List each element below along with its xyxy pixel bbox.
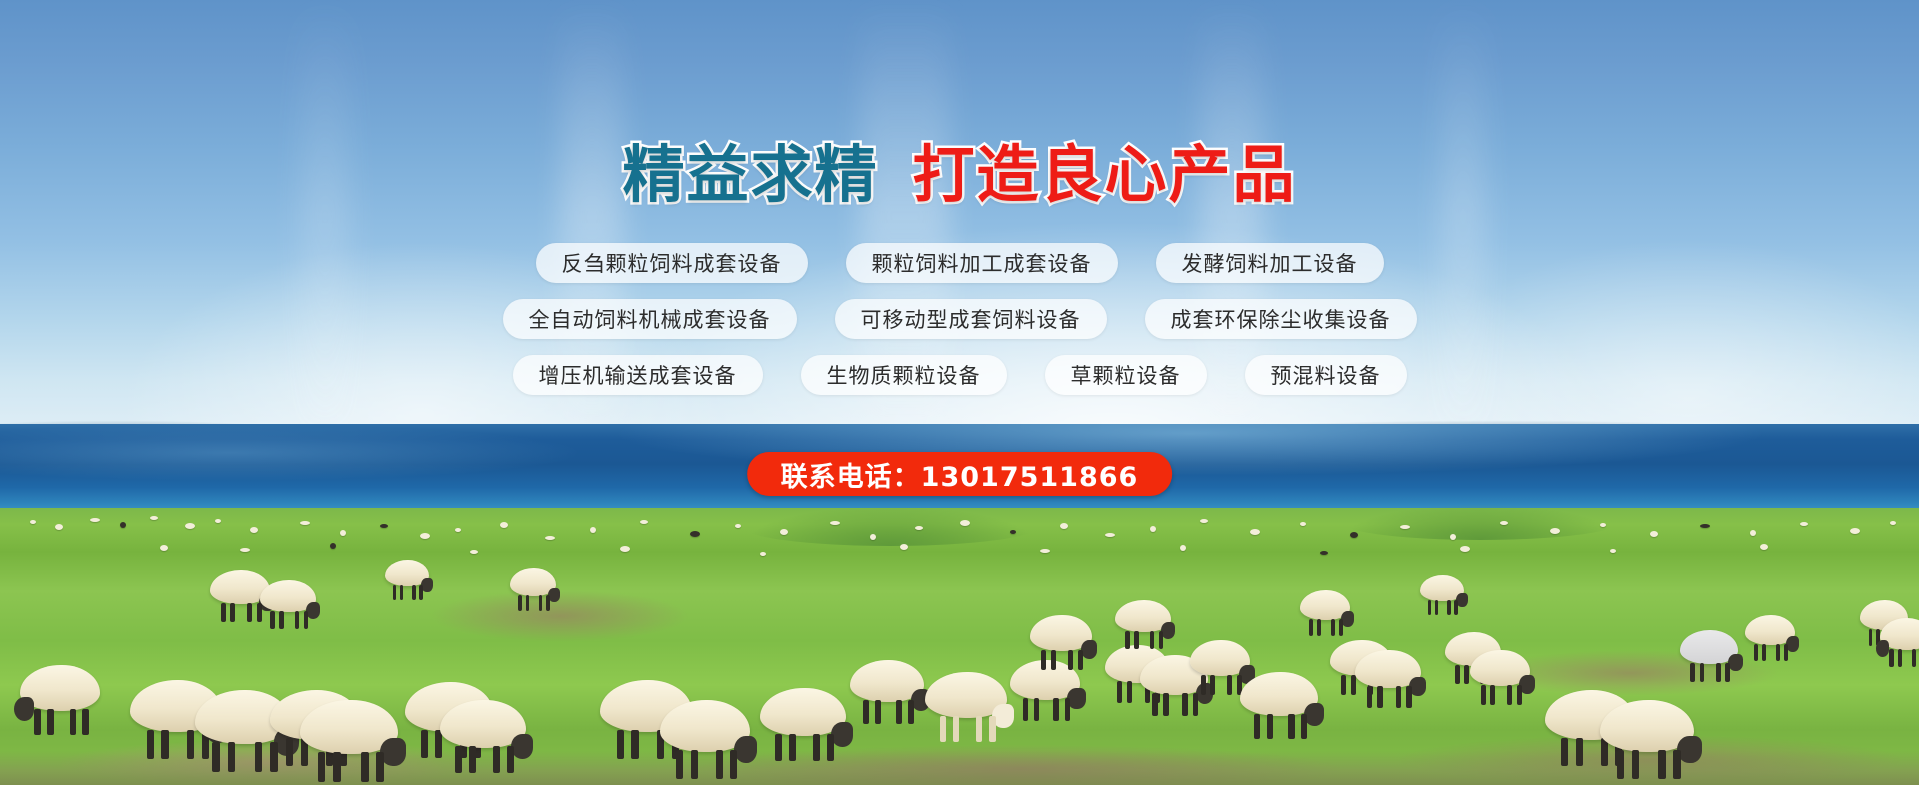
grazing-sheep <box>1030 615 1092 651</box>
sheep-head <box>1067 688 1085 709</box>
sheep-leg <box>1464 665 1468 684</box>
grazing-sheep <box>1470 650 1530 686</box>
sheep-leg <box>361 752 369 782</box>
sheep-head <box>1161 622 1176 639</box>
distant-sheep <box>215 519 221 523</box>
sheep-leg <box>161 730 168 759</box>
distant-sheep <box>500 522 508 528</box>
grazing-sheep <box>1355 650 1421 688</box>
sheep-leg <box>730 750 737 779</box>
sheep-leg <box>1716 663 1721 682</box>
sheep-leg <box>295 611 299 629</box>
sheep-leg <box>270 611 274 629</box>
sheep-leg <box>412 585 416 600</box>
product-category-pill[interactable]: 成套环保除尘收集设备 <box>1145 299 1417 339</box>
sheep-leg <box>1406 686 1411 707</box>
headline-part-1: 精益求精 <box>622 138 878 211</box>
promo-banner: 精益求精打造良心产品 反刍颗粒饲料成套设备颗粒饲料加工成套设备发酵饲料加工设备全… <box>0 0 1919 785</box>
sheep-leg <box>1317 619 1321 636</box>
sheep-leg <box>676 750 683 779</box>
sheep-leg <box>304 611 308 629</box>
distant-sheep <box>1550 528 1560 534</box>
grazing-sheep <box>510 568 556 596</box>
sheep-leg <box>318 752 326 782</box>
sheep-leg <box>1078 650 1083 670</box>
sheep-head <box>14 697 35 721</box>
sheep-leg <box>1152 693 1157 715</box>
sheep-leg <box>989 716 996 742</box>
distant-sheep <box>240 548 250 552</box>
sheep-leg <box>187 730 194 759</box>
sheep-head <box>380 738 405 766</box>
grazing-sheep <box>1600 700 1694 752</box>
distant-sheep <box>1300 522 1306 526</box>
distant-sheep <box>1760 544 1768 550</box>
sheep-leg <box>716 750 723 779</box>
distant-sheep <box>1500 521 1508 525</box>
distant-sheep <box>1700 524 1710 528</box>
product-category-pill[interactable]: 增压机输送成套设备 <box>513 355 763 395</box>
distant-sheep <box>915 526 923 530</box>
distant-sheep <box>735 524 741 528</box>
grazing-sheep <box>385 560 429 586</box>
sheep-leg <box>1517 685 1522 705</box>
sheep-leg <box>976 716 983 742</box>
product-category-pill[interactable]: 草颗粒设备 <box>1045 355 1207 395</box>
sheep-leg <box>1912 649 1916 667</box>
grass-mound <box>1340 504 1620 540</box>
distant-sheep <box>470 550 478 554</box>
sheep-leg <box>1125 631 1129 649</box>
sheep-leg <box>1051 650 1056 670</box>
distant-sheep <box>1200 519 1208 523</box>
product-category-row: 增压机输送成套设备生物质颗粒设备草颗粒设备预混料设备 <box>0 355 1919 395</box>
distant-sheep <box>1600 523 1606 527</box>
sheep-leg <box>1435 600 1439 615</box>
product-category-pill[interactable]: 发酵饲料加工设备 <box>1156 243 1384 283</box>
sheep-leg <box>896 700 902 724</box>
sheep-leg <box>1754 644 1758 661</box>
sheep-leg <box>1227 675 1232 695</box>
sheep-leg <box>908 700 914 724</box>
grazing-sheep <box>1115 600 1171 632</box>
distant-sheep <box>760 552 766 556</box>
sheep-leg <box>1341 675 1346 695</box>
sheep-leg <box>419 585 423 600</box>
distant-sheep <box>1890 521 1896 525</box>
sheep-leg <box>691 750 698 779</box>
product-category-pill[interactable]: 生物质颗粒设备 <box>801 355 1007 395</box>
sheep-leg <box>1267 714 1273 739</box>
sheep-leg <box>1762 644 1766 661</box>
distant-sheep <box>420 533 430 539</box>
product-category-pill[interactable]: 可移动型成套饲料设备 <box>835 299 1107 339</box>
sheep-leg <box>286 738 293 766</box>
sheep-leg <box>421 730 428 758</box>
distant-sheep <box>590 527 596 533</box>
grazing-sheep <box>1240 672 1318 716</box>
sheep-leg <box>1254 714 1260 739</box>
sheep-leg <box>1288 714 1294 739</box>
sheep-leg <box>400 585 404 600</box>
dirt-patch <box>430 590 690 642</box>
sheep-leg <box>1201 675 1206 695</box>
sheep-leg <box>1053 698 1059 720</box>
grazing-sheep <box>1190 640 1250 676</box>
sheep-leg <box>617 730 624 759</box>
sheep-leg <box>221 603 226 622</box>
distant-sheep <box>960 520 970 526</box>
grazing-sheep <box>1745 615 1795 645</box>
sheep-leg <box>47 709 53 735</box>
distant-sheep <box>620 546 630 552</box>
grazing-sheep <box>440 700 526 748</box>
sheep-leg <box>1193 693 1198 715</box>
distant-sheep <box>1010 530 1016 534</box>
sheep-leg <box>1150 631 1154 649</box>
distant-sheep <box>780 529 788 535</box>
sheep-leg <box>1725 663 1730 682</box>
sheep-leg <box>1367 686 1372 707</box>
sheep-leg <box>1428 600 1432 615</box>
distant-sheep <box>340 530 346 536</box>
sheep-leg <box>70 709 76 735</box>
sheep-leg <box>1041 650 1046 670</box>
sheep-leg <box>1034 698 1040 720</box>
sheep-leg <box>789 734 796 761</box>
grazing-sheep <box>20 665 100 711</box>
sheep-leg <box>539 595 543 611</box>
distant-sheep <box>160 545 168 551</box>
distant-sheep <box>1060 523 1068 529</box>
sheep-leg <box>1454 600 1458 615</box>
product-category-list: 反刍颗粒饲料成套设备颗粒饲料加工成套设备发酵饲料加工设备全自动饲料机械成套设备可… <box>0 243 1919 411</box>
distant-sheep <box>330 543 336 549</box>
sheep-leg <box>526 595 530 611</box>
sheep-head <box>306 602 321 619</box>
sheep-leg <box>1632 750 1640 779</box>
product-category-pill[interactable]: 颗粒饲料加工成套设备 <box>846 243 1118 283</box>
sheep-leg <box>147 730 154 759</box>
sheep-leg <box>1561 738 1568 766</box>
sheep-leg <box>1309 619 1313 636</box>
sheep-leg <box>1301 714 1307 739</box>
sheep-leg <box>230 603 235 622</box>
distant-sheep <box>1180 545 1186 551</box>
product-category-pill[interactable]: 反刍颗粒饲料成套设备 <box>536 243 808 283</box>
product-category-pill[interactable]: 全自动饲料机械成套设备 <box>503 299 797 339</box>
sheep-leg <box>455 746 462 773</box>
distant-sheep <box>900 544 908 550</box>
sheep-leg <box>1117 681 1122 702</box>
sheep-leg <box>1331 619 1335 636</box>
product-category-row: 反刍颗粒饲料成套设备颗粒饲料加工成套设备发酵饲料加工设备 <box>0 243 1919 283</box>
distant-sheep <box>1320 551 1328 555</box>
sheep-leg <box>1134 631 1138 649</box>
distant-sheep <box>1040 549 1050 553</box>
sheep-leg <box>1455 665 1459 684</box>
distant-sheep <box>1850 528 1860 534</box>
sheep-leg <box>212 742 220 772</box>
product-category-row: 全自动饲料机械成套设备可移动型成套饲料设备成套环保除尘收集设备 <box>0 299 1919 339</box>
sheep-head <box>1876 640 1890 657</box>
distant-sheep <box>1350 532 1358 538</box>
sheep-leg <box>863 700 869 724</box>
sheep-head <box>734 736 757 763</box>
distant-sheep <box>1450 534 1456 540</box>
distant-sheep <box>1750 530 1756 536</box>
sheep-leg <box>1576 738 1583 766</box>
sheep-leg <box>1700 663 1705 682</box>
sheep-leg <box>1673 750 1681 779</box>
sheep-leg <box>1127 681 1132 702</box>
sheep-leg <box>953 716 960 742</box>
sheep-leg <box>813 734 820 761</box>
grazing-sheep <box>1300 590 1350 620</box>
grazing-sheep <box>300 700 398 754</box>
sheep-leg <box>1339 619 1343 636</box>
sheep-leg <box>493 746 500 773</box>
distant-sheep <box>30 520 36 524</box>
distant-sheep <box>380 524 388 528</box>
distant-sheep <box>455 528 461 532</box>
contact-phone-badge[interactable]: 联系电话：13017511866 <box>747 452 1173 496</box>
grazing-sheep <box>850 660 924 702</box>
sheep-leg <box>940 716 947 742</box>
sheep-leg <box>1658 750 1666 779</box>
sheep-leg <box>1065 698 1071 720</box>
distant-sheep <box>545 536 555 540</box>
sheep-leg <box>1898 649 1902 667</box>
distant-sheep <box>640 520 648 524</box>
grazing-sheep <box>1880 618 1919 650</box>
sheep-leg <box>1447 600 1451 615</box>
distant-sheep <box>150 516 158 520</box>
sheep-leg <box>255 742 263 772</box>
sheep-leg <box>1182 693 1187 715</box>
distant-sheep <box>830 521 840 525</box>
grazing-sheep <box>260 580 316 612</box>
sheep-leg <box>507 746 514 773</box>
distant-sheep <box>690 531 700 537</box>
sheep-leg <box>1163 693 1168 715</box>
distant-sheep <box>185 523 195 529</box>
sheep-leg <box>1690 663 1695 682</box>
sheep-leg <box>1068 650 1073 670</box>
sheep-leg <box>333 752 341 782</box>
distant-sheep <box>1105 533 1115 537</box>
sheep-leg <box>1490 685 1495 705</box>
sheep-leg <box>247 603 252 622</box>
distant-sheep <box>1250 529 1260 535</box>
distant-sheep <box>120 522 126 528</box>
sheep-leg <box>775 734 782 761</box>
page-title: 精益求精打造良心产品 <box>0 140 1919 210</box>
sheep-leg <box>631 730 638 759</box>
product-category-pill[interactable]: 预混料设备 <box>1245 355 1407 395</box>
headline-part-2: 打造良心产品 <box>913 138 1297 211</box>
grazing-sheep <box>660 700 750 752</box>
sheep-leg <box>546 595 550 611</box>
sheep-leg <box>827 734 834 761</box>
distant-sheep <box>300 521 310 525</box>
grass-mound <box>740 506 1040 546</box>
sheep-leg <box>376 752 384 782</box>
sheep-leg <box>469 746 476 773</box>
sheep-head <box>1081 640 1097 659</box>
distant-sheep <box>1150 526 1156 532</box>
distant-sheep <box>1650 531 1658 537</box>
sheep-leg <box>1507 685 1512 705</box>
sheep-leg <box>1159 631 1163 649</box>
distant-sheep <box>1400 525 1410 529</box>
distant-sheep <box>250 527 258 533</box>
sheep-leg <box>518 595 522 611</box>
sheep-leg <box>875 700 881 724</box>
grazing-sheep <box>1680 630 1738 664</box>
sheep-leg <box>1776 644 1780 661</box>
grazing-sheep <box>1420 575 1464 601</box>
grazing-sheep <box>925 672 1007 718</box>
sheep-leg <box>82 709 88 735</box>
distant-sheep <box>90 518 100 522</box>
distant-sheep <box>1460 546 1470 552</box>
grazing-sheep <box>760 688 846 736</box>
sheep-leg <box>1210 675 1215 695</box>
distant-sheep <box>55 524 63 530</box>
sheep-leg <box>393 585 397 600</box>
distant-sheep <box>1800 522 1808 526</box>
distant-sheep <box>870 534 876 540</box>
sheep-leg <box>270 742 278 772</box>
sheep-leg <box>1889 649 1893 667</box>
sheep-leg <box>34 709 40 735</box>
sheep-leg <box>1023 698 1029 720</box>
sheep-leg <box>1869 629 1873 646</box>
sheep-leg <box>279 611 283 629</box>
sheep-leg <box>1617 750 1625 779</box>
sheep-leg <box>1377 686 1382 707</box>
sheep-leg <box>1396 686 1401 707</box>
sheep-leg <box>228 742 236 772</box>
distant-sheep <box>1610 549 1616 553</box>
sheep-leg <box>1784 644 1788 661</box>
sheep-leg <box>1481 685 1486 705</box>
